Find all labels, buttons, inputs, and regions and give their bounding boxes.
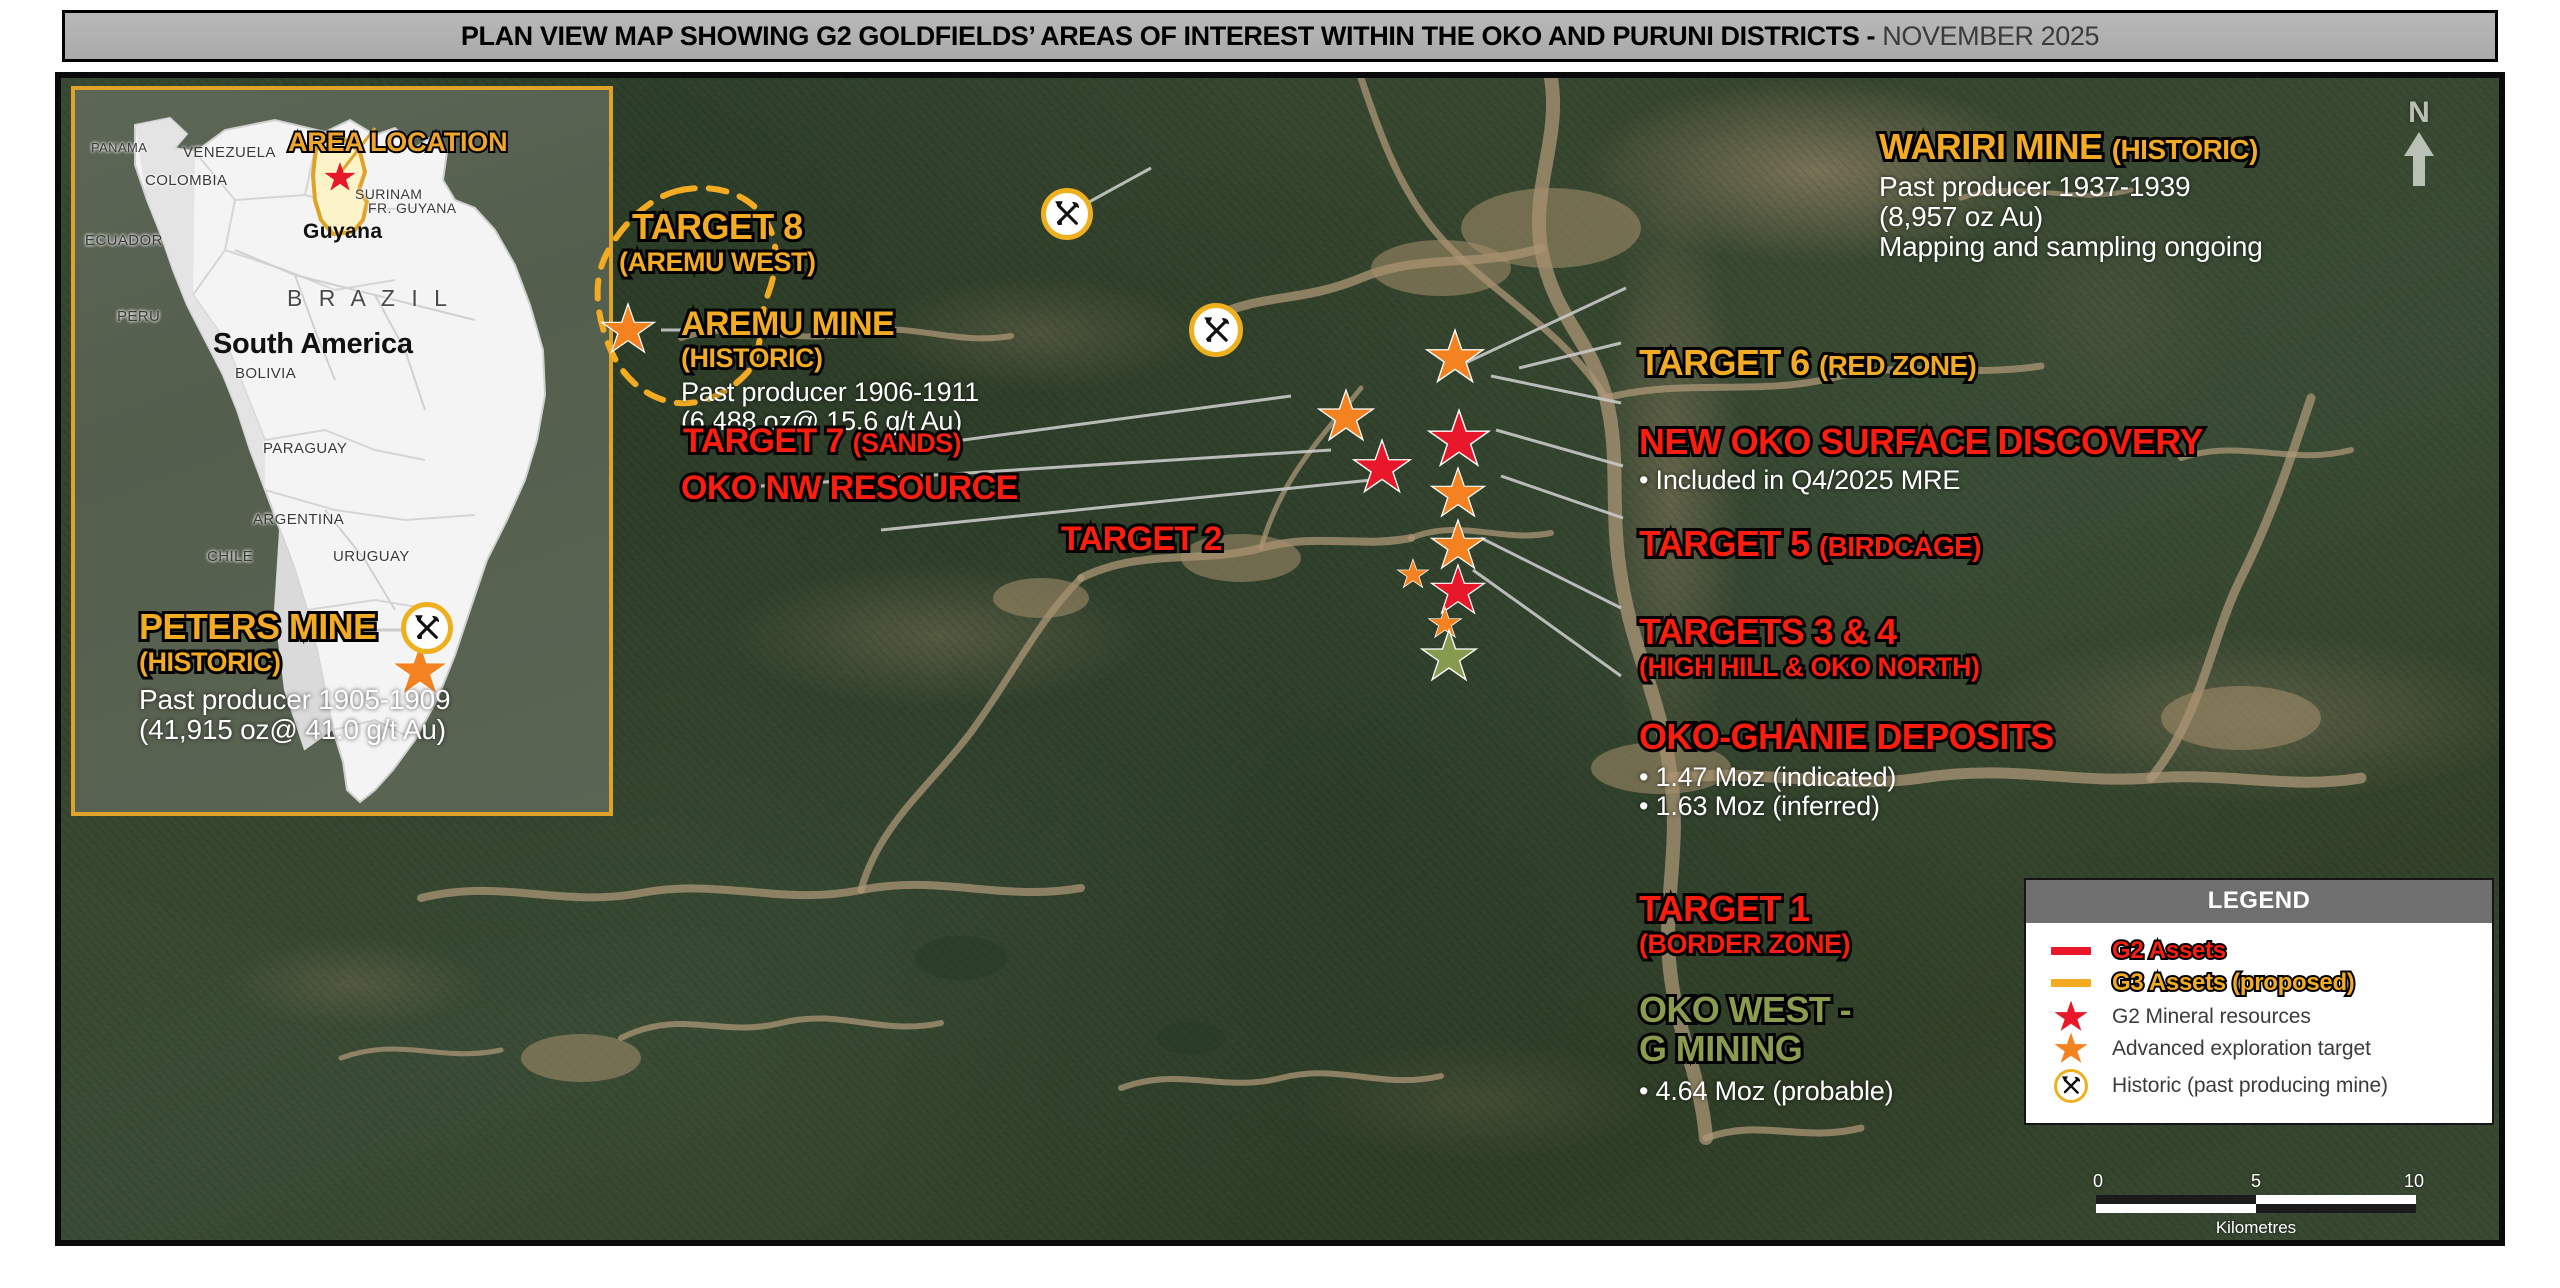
- legend-item-historic-mine: Historic (past producing mine): [2048, 1069, 2482, 1103]
- inset-country-paraguay: PARAGUAY: [263, 440, 347, 457]
- annotation-target-8: TARGET 8 (AREMU WEST): [619, 208, 815, 277]
- target1-heading-suffix: (BORDER ZONE): [1639, 929, 1850, 959]
- legend-item-advanced-exploration-target: Advanced exploration target: [2048, 1037, 2482, 1061]
- peters-line-2: (41,915 oz@ 41.0 g/t Au): [139, 715, 450, 745]
- legend-key-mine-icon: [2048, 1069, 2094, 1103]
- target5-heading: TARGET 5: [1639, 523, 1819, 564]
- okoghanie-line-1: • 1.47 Moz (indicated): [1639, 763, 2054, 792]
- inset-country-argentina: ARGENTINA: [253, 511, 344, 528]
- star-icon-red: [2054, 1001, 2088, 1034]
- target1-heading: TARGET 1: [1639, 888, 1810, 929]
- scale-ticks: 0 5 10: [2096, 1171, 2436, 1193]
- aremu-heading-suffix: (HISTORIC): [681, 343, 823, 373]
- pickaxe-shovel-icon: [1199, 313, 1234, 348]
- wariri-heading-suffix: (HISTORIC): [2112, 134, 2258, 165]
- north-label: N: [2389, 96, 2449, 130]
- title-main: PLAN VIEW MAP SHOWING G2 GOLDFIELDS’ ARE…: [461, 21, 1882, 51]
- target2-heading: TARGET 2: [1061, 520, 1222, 558]
- north-arrow: N: [2389, 96, 2449, 193]
- legend-label-g2-mineral-resources: G2 Mineral resources: [2112, 1005, 2311, 1029]
- annotation-oko-ghanie-deposits: OKO-GHANIE DEPOSITS • 1.47 Moz (indicate…: [1639, 718, 2054, 821]
- north-arrow-icon: [2399, 130, 2439, 188]
- annotation-peters-mine: PETERS MINE (HISTORIC) Past producer 190…: [139, 608, 450, 746]
- annotation-target-6: TARGET 6 (RED ZONE): [1639, 344, 1976, 383]
- peters-heading: PETERS MINE: [139, 606, 376, 647]
- inset-country-bolivia: BOLIVIA: [235, 365, 296, 382]
- map-star-target-5: [1426, 408, 1492, 472]
- legend-items: G2 Assets G3 Assets (proposed) G2 Minera…: [2026, 923, 2492, 1123]
- map-star-oko-ghanie-west: [1396, 558, 1430, 591]
- wariri-line-3: Mapping and sampling ongoing: [1879, 232, 2263, 262]
- scale-tick-10: 10: [2404, 1171, 2424, 1192]
- mine-icon-aremu: [1189, 303, 1243, 357]
- target7-heading: TARGET 7: [683, 422, 853, 460]
- annotation-wariri-mine: WARIRI MINE (HISTORIC) Past producer 193…: [1879, 128, 2263, 263]
- okoghanie-heading: OKO-GHANIE DEPOSITS: [1639, 716, 2054, 757]
- pickaxe-shovel-icon: [2059, 1074, 2083, 1098]
- annotation-oko-west-g-mining: OKO WEST - G MINING • 4.64 Moz (probable…: [1639, 991, 1893, 1106]
- inset-country-ecuador: ECUADOR: [85, 232, 163, 249]
- star-icon-orange: [2054, 1033, 2088, 1066]
- targets34-heading: TARGETS 3 & 4: [1639, 611, 1897, 652]
- title-bar: PLAN VIEW MAP SHOWING G2 GOLDFIELDS’ ARE…: [62, 10, 2498, 62]
- legend-label-advanced-exploration-target: Advanced exploration target: [2112, 1037, 2371, 1061]
- scale-tick-0: 0: [2093, 1171, 2103, 1192]
- inset-country-colombia: COLOMBIA: [145, 172, 227, 189]
- page-title: PLAN VIEW MAP SHOWING G2 GOLDFIELDS’ ARE…: [461, 21, 2099, 52]
- target6-heading: TARGET 6: [1639, 342, 1819, 383]
- target6-heading-suffix: (RED ZONE): [1819, 350, 1976, 381]
- inset-country-chile: CHILE: [207, 548, 253, 565]
- wariri-line-1: Past producer 1937-1939: [1879, 172, 2263, 202]
- newoko-line-1: • Included in Q4/2025 MRE: [1639, 466, 2203, 495]
- inset-continent: South America: [213, 328, 413, 361]
- inset-country-fr-guyana: FR. GUYANA: [368, 200, 457, 216]
- map-poster: PLAN VIEW MAP SHOWING G2 GOLDFIELDS’ ARE…: [0, 0, 2560, 1288]
- legend-label-historic-mine: Historic (past producing mine): [2112, 1074, 2388, 1098]
- legend-item-g3-assets: G3 Assets (proposed): [2048, 969, 2482, 997]
- legend-label-g2-assets: G2 Assets: [2112, 937, 2226, 965]
- map-star-target-4: [1429, 466, 1487, 522]
- annotation-target-1: TARGET 1 (BORDER ZONE): [1639, 890, 1850, 959]
- map-star-target-8: [599, 302, 657, 358]
- newoko-heading: NEW OKO SURFACE DISCOVERY: [1639, 421, 2203, 462]
- annotation-target-5: TARGET 5 (BIRDCAGE): [1639, 525, 1981, 564]
- okowest-heading-suffix: G MINING: [1639, 1028, 1802, 1069]
- map-star-oko-west: [1419, 628, 1479, 686]
- legend-item-g2-assets: G2 Assets: [2048, 937, 2482, 965]
- legend-key-dash-red: [2048, 947, 2094, 955]
- okowest-line-1: • 4.64 Moz (probable): [1639, 1077, 1893, 1106]
- inset-country-brazil: B R A Z I L: [287, 285, 452, 312]
- inset-country-uruguay: URUGUAY: [333, 548, 410, 565]
- target8-heading: TARGET 8: [632, 206, 803, 247]
- target5-heading-suffix: (BIRDCAGE): [1819, 531, 1981, 562]
- legend-key-dash-orange: [2048, 979, 2094, 987]
- wariri-heading: WARIRI MINE: [1879, 126, 2112, 167]
- annotation-targets-3-and-4: TARGETS 3 & 4 (HIGH HILL & OKO NORTH): [1639, 613, 1979, 682]
- annotation-target-7: TARGET 7 (SANDS): [683, 423, 961, 460]
- map-star-target-6: [1424, 328, 1486, 388]
- aremu-line-1: Past producer 1906-1911: [681, 378, 979, 407]
- legend-item-g2-mineral-resources: G2 Mineral resources: [2048, 1005, 2482, 1029]
- target7-heading-suffix: (SANDS): [853, 428, 961, 458]
- okoghanie-line-2: • 1.63 Moz (inferred): [1639, 792, 2054, 821]
- okowest-heading: OKO WEST -: [1639, 989, 1851, 1030]
- targets34-heading-suffix: (HIGH HILL & OKO NORTH): [1639, 652, 1979, 682]
- annotation-oko-nw-resource: OKO NW RESOURCE: [681, 470, 1018, 507]
- inset-guyana: Guyana: [303, 220, 382, 244]
- annotation-new-oko-surface-discovery: NEW OKO SURFACE DISCOVERY • Included in …: [1639, 423, 2203, 495]
- annotation-aremu-mine: AREMU MINE (HISTORIC) Past producer 1906…: [681, 306, 979, 436]
- inset-location-star: [324, 162, 356, 193]
- inset-country-peru: PERU: [117, 308, 160, 325]
- pickaxe-shovel-icon: [1050, 197, 1084, 231]
- wariri-line-2: (8,957 oz Au): [1879, 202, 2263, 232]
- legend-panel: LEGEND G2 Assets G3 Assets (proposed) G2…: [2024, 878, 2494, 1125]
- inset-country-venezuela: VENEZUELA: [183, 144, 276, 161]
- legend-label-g3-assets: G3 Assets (proposed): [2112, 969, 2355, 997]
- scale-tick-5: 5: [2251, 1171, 2261, 1192]
- inset-heading: AREA LOCATION: [288, 127, 507, 158]
- scale-caption: Kilometres: [2096, 1218, 2416, 1238]
- legend-title: LEGEND: [2026, 880, 2492, 923]
- aremu-heading: AREMU MINE: [681, 305, 894, 343]
- okonw-heading: OKO NW RESOURCE: [681, 469, 1018, 507]
- scale-bar-graphic: [2096, 1195, 2416, 1213]
- target8-heading-suffix: (AREMU WEST): [619, 247, 815, 277]
- peters-line-1: Past producer 1905-1909: [139, 685, 450, 715]
- scale-bar: 0 5 10 Kilometres: [2096, 1171, 2436, 1238]
- map-star-oko-nw: [1351, 438, 1413, 498]
- title-date: NOVEMBER 2025: [1882, 21, 2099, 51]
- annotation-target-2: TARGET 2: [1061, 521, 1222, 558]
- map-canvas: AREA LOCATION PANAMA VENEZUELA COLOMBIA …: [55, 72, 2505, 1246]
- inset-country-panama: PANAMA: [91, 140, 147, 155]
- mine-icon-wariri: [1041, 188, 1093, 240]
- peters-heading-suffix: (HISTORIC): [139, 647, 281, 677]
